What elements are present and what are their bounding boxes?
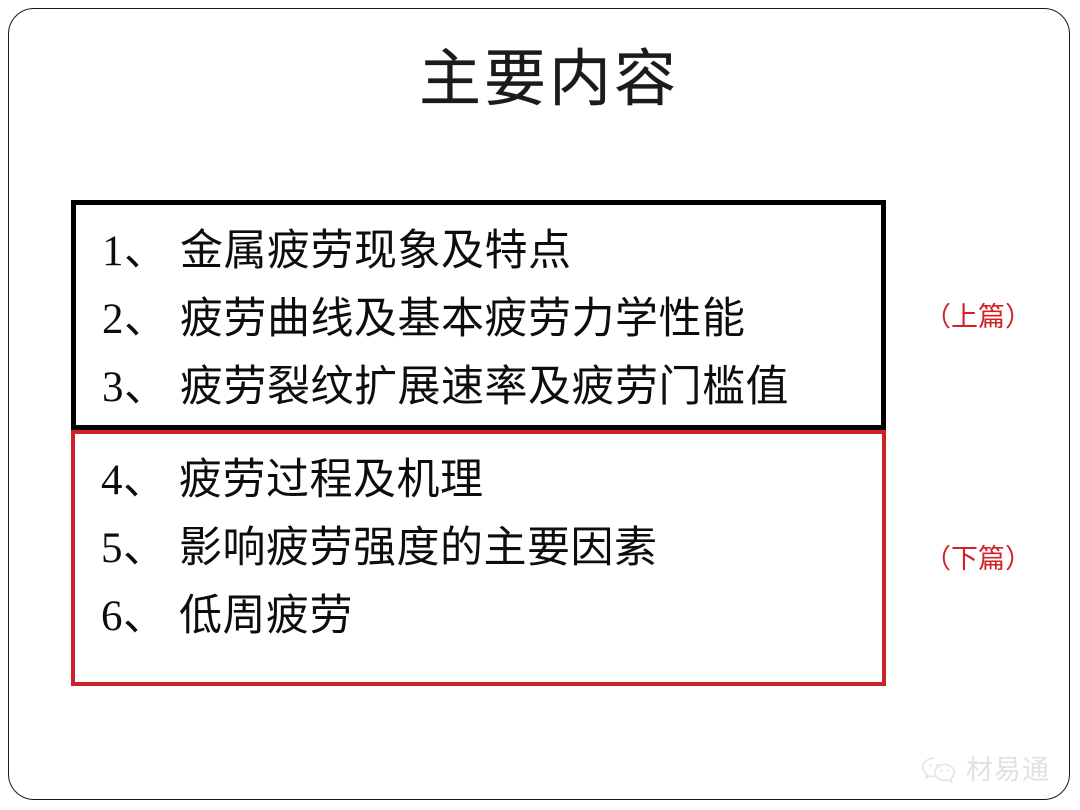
list-item-label: 疲劳曲线及基本疲劳力学性能: [180, 296, 746, 343]
list-item-label: 金属疲劳现象及特点: [180, 228, 572, 275]
list-item: 2、疲劳曲线及基本疲劳力学性能: [76, 286, 881, 354]
list-item: 4、疲劳过程及机理: [75, 447, 882, 515]
list-item-index: 4、: [101, 447, 179, 515]
list-item-index: 5、: [101, 515, 179, 583]
list-item-label: 影响疲劳强度的主要因素: [179, 525, 658, 572]
section-box-lower: 4、疲劳过程及机理 5、影响疲劳强度的主要因素 6、低周疲劳: [71, 430, 886, 686]
list-item: 3、疲劳裂纹扩展速率及疲劳门槛值: [76, 354, 881, 422]
list-item-label: 疲劳裂纹扩展速率及疲劳门槛值: [180, 364, 789, 411]
list-item: 6、低周疲劳: [75, 583, 882, 651]
list-item: 5、影响疲劳强度的主要因素: [75, 515, 882, 583]
list-item-label: 疲劳过程及机理: [179, 457, 484, 504]
list-item-index: 6、: [101, 583, 179, 651]
item-list-upper: 1、金属疲劳现象及特点 2、疲劳曲线及基本疲劳力学性能 3、疲劳裂纹扩展速率及疲…: [76, 205, 881, 422]
part-label-upper: （上篇）: [924, 300, 1080, 334]
list-item-index: 1、: [102, 218, 180, 286]
watermark-label: 材易通: [966, 755, 1050, 785]
list-item-index: 2、: [102, 286, 180, 354]
list-item: 1、金属疲劳现象及特点: [76, 218, 881, 286]
list-item-label: 低周疲劳: [179, 593, 353, 640]
item-list-lower: 4、疲劳过程及机理 5、影响疲劳强度的主要因素 6、低周疲劳: [75, 434, 882, 651]
list-item-index: 3、: [102, 354, 180, 422]
slide-frame: 主要内容 1、金属疲劳现象及特点 2、疲劳曲线及基本疲劳力学性能 3、疲劳裂纹扩…: [8, 8, 1070, 800]
watermark: 材易通: [921, 755, 1050, 785]
section-box-upper: 1、金属疲劳现象及特点 2、疲劳曲线及基本疲劳力学性能 3、疲劳裂纹扩展速率及疲…: [71, 200, 886, 430]
part-label-lower: （下篇）: [924, 542, 1080, 576]
page-title: 主要内容: [9, 39, 1080, 119]
wechat-icon: [921, 755, 959, 785]
